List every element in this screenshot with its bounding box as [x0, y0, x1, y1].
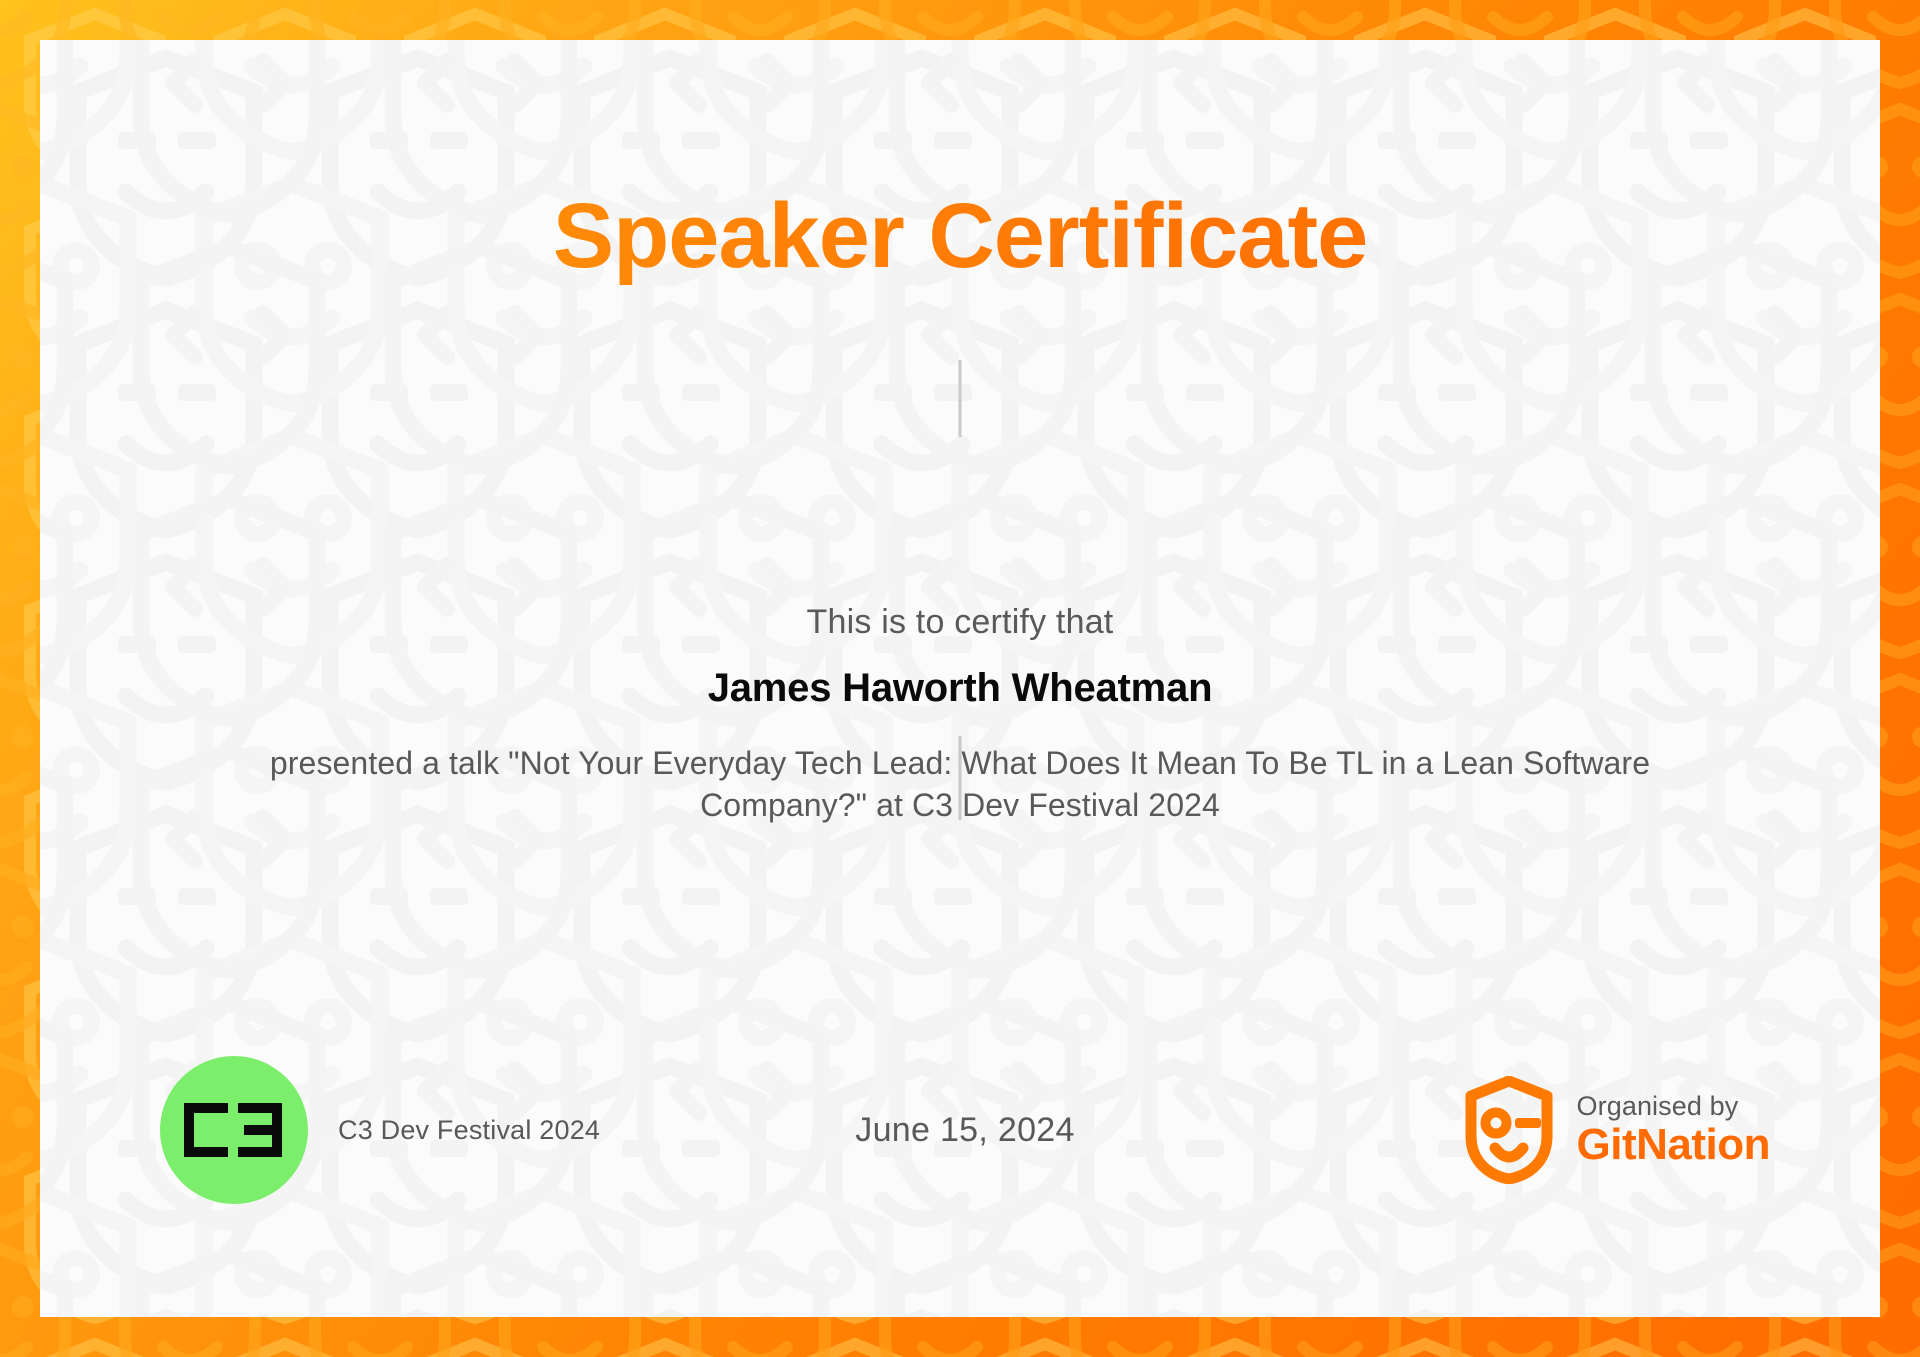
certificate-footer: C3 Dev Festival 2024 June 15, 2024 Organ… — [160, 1040, 1770, 1220]
organiser-text-block: Organised by GitNation — [1577, 1092, 1770, 1169]
recipient-name: James Haworth Wheatman — [40, 666, 1880, 711]
gitnation-shield-mask-icon — [1463, 1076, 1555, 1184]
footer-organiser-lockup: Organised by GitNation — [1463, 1076, 1770, 1184]
c3-logo-icon — [182, 1101, 286, 1159]
divider-top — [959, 360, 962, 437]
c3-logo-badge — [160, 1056, 308, 1204]
certificate-card: Speaker Certificate This is to certify t… — [40, 40, 1880, 1317]
organiser-name: GitNation — [1577, 1121, 1770, 1169]
footer-event-lockup: C3 Dev Festival 2024 — [160, 1056, 600, 1204]
certificate-page: Speaker Certificate This is to certify t… — [0, 0, 1920, 1357]
certify-line: This is to certify that — [40, 603, 1880, 642]
organised-by-label: Organised by — [1577, 1092, 1770, 1121]
certificate-date: June 15, 2024 — [855, 1111, 1074, 1150]
event-name-label: C3 Dev Festival 2024 — [338, 1115, 600, 1146]
divider-bottom — [959, 736, 962, 820]
page-title: Speaker Certificate — [40, 188, 1880, 285]
